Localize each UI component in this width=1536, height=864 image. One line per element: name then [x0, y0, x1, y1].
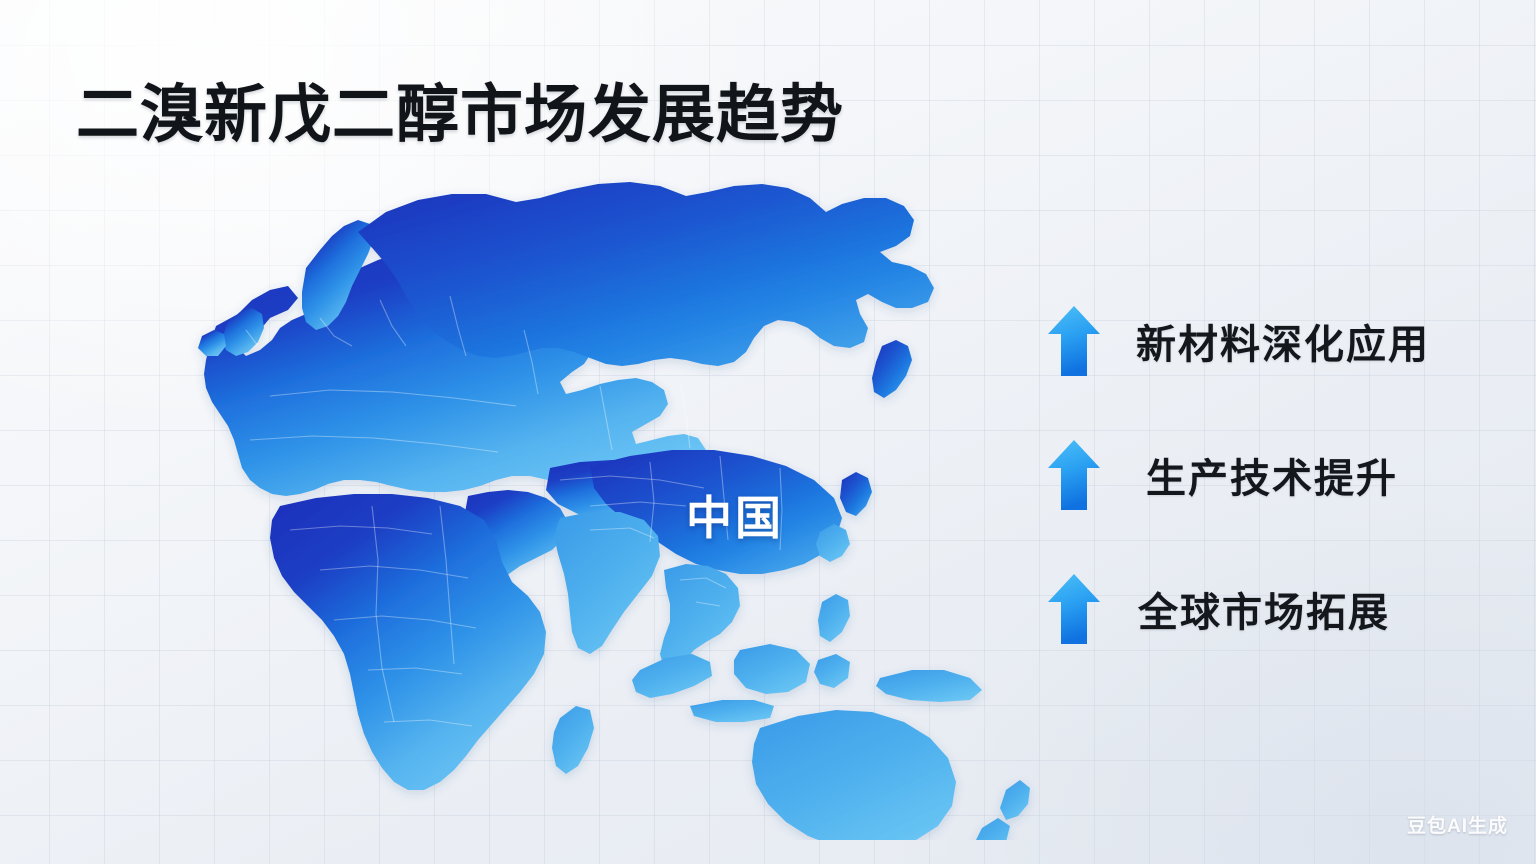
region-madagascar [552, 706, 594, 774]
region-java [690, 700, 774, 722]
region-russia-siberia [358, 182, 934, 366]
region-kamchatka [872, 340, 912, 398]
arrow-up-icon [1046, 438, 1102, 512]
world-map-svg [120, 150, 1100, 840]
region-new-zealand [1000, 780, 1030, 820]
trend-item-2[interactable]: 生产技术提升 [1046, 416, 1516, 534]
arrow-up-icon [1046, 572, 1102, 646]
region-borneo [734, 644, 810, 694]
map-landmasses [198, 182, 1030, 840]
region-british-isles [222, 308, 264, 356]
world-map: 中国 [120, 150, 1100, 840]
region-philippines [818, 594, 850, 642]
trend-list: 新材料深化应用 生产技术提升 全球市场拓展 [1046, 282, 1516, 668]
region-sumatra [632, 654, 712, 698]
trend-item-3-label: 全球市场拓展 [1138, 580, 1390, 638]
trend-item-1-label: 新材料深化应用 [1136, 312, 1430, 370]
trend-item-2-label: 生产技术提升 [1146, 446, 1398, 504]
region-sulawesi [814, 654, 850, 688]
slide-canvas: 二溴新戊二醇市场发展趋势 [0, 0, 1536, 864]
region-southeast-asia [660, 564, 740, 672]
map-country-label-china: 中国 [686, 482, 784, 548]
region-new-zealand-south [972, 818, 1010, 840]
page-title: 二溴新戊二醇市场发展趋势 [76, 82, 844, 148]
arrow-up-icon [1046, 304, 1102, 378]
region-new-guinea [876, 670, 982, 702]
trend-item-3[interactable]: 全球市场拓展 [1046, 550, 1516, 668]
trend-item-1[interactable]: 新材料深化应用 [1046, 282, 1516, 400]
watermark: 豆包AI生成 [1407, 811, 1508, 838]
region-australia [752, 710, 956, 840]
region-japan [840, 472, 872, 516]
